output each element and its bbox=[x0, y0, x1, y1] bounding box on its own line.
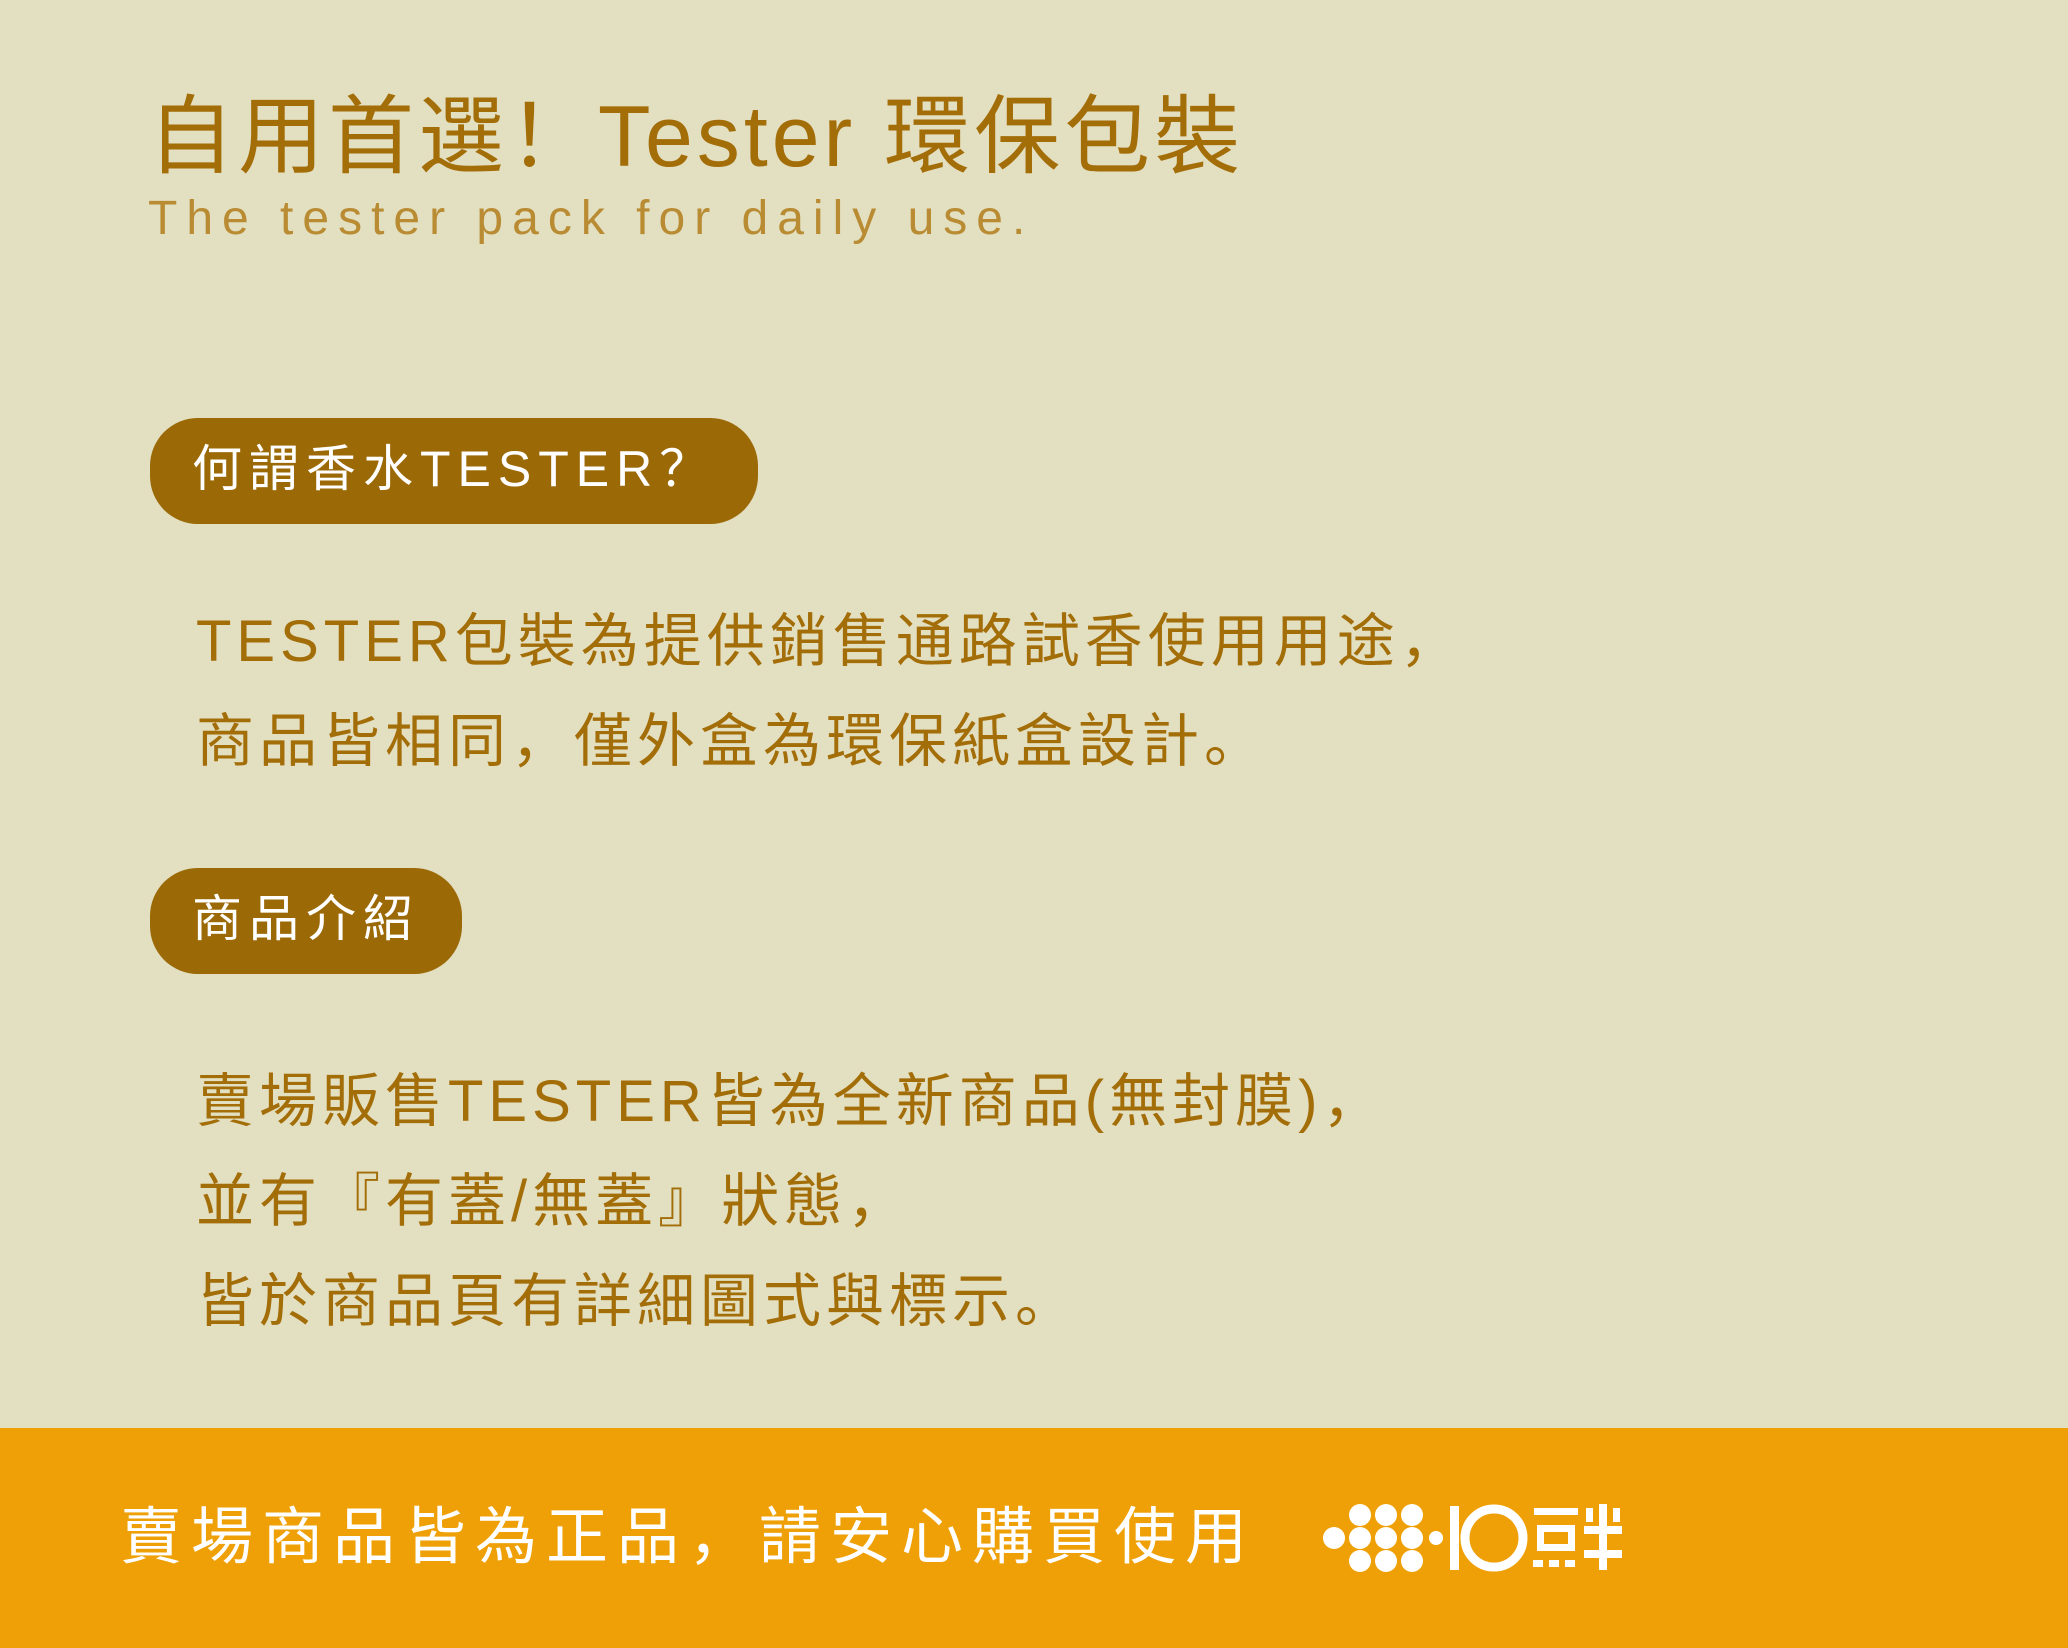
header: 自用首選！Tester 環保包裝 The tester pack for dai… bbox=[148, 92, 1948, 246]
page-title: 自用首選！Tester 環保包裝 bbox=[148, 92, 1948, 183]
body-line: 並有『有蓋/無蓋』狀態， bbox=[196, 1152, 1385, 1252]
section-body-product-introduction: 賣場販售TESTER皆為全新商品(無封膜)， 並有『有蓋/無蓋』狀態， 皆於商品… bbox=[196, 1052, 1385, 1351]
footer-bar: 賣場商品皆為正品，請安心購買使用 10點半 bbox=[0, 1428, 2068, 1648]
section-badge-what-is-tester: 何謂香水TESTER？ bbox=[150, 418, 758, 524]
footer-message: 賣場商品皆為正品，請安心購買使用 bbox=[120, 1507, 1256, 1569]
body-line: 賣場販售TESTER皆為全新商品(無封膜)， bbox=[196, 1052, 1385, 1152]
dot-matrix-logo-icon bbox=[1322, 1498, 1622, 1578]
body-line: 皆於商品頁有詳細圖式與標示。 bbox=[196, 1252, 1385, 1352]
section-body-what-is-tester: TESTER包裝為提供銷售通路試香使用用途， 商品皆相同，僅外盒為環保紙盒設計。 bbox=[196, 592, 1463, 792]
page-subtitle: The tester pack for daily use. bbox=[148, 193, 1948, 246]
body-line: 商品皆相同，僅外盒為環保紙盒設計。 bbox=[196, 692, 1463, 792]
brand-logo: 10點半 bbox=[1322, 1498, 1622, 1578]
section-badge-product-introduction: 商品介紹 bbox=[150, 868, 462, 974]
body-line: TESTER包裝為提供銷售通路試香使用用途， bbox=[196, 592, 1463, 692]
promo-banner: 自用首選！Tester 環保包裝 The tester pack for dai… bbox=[0, 0, 2068, 1648]
